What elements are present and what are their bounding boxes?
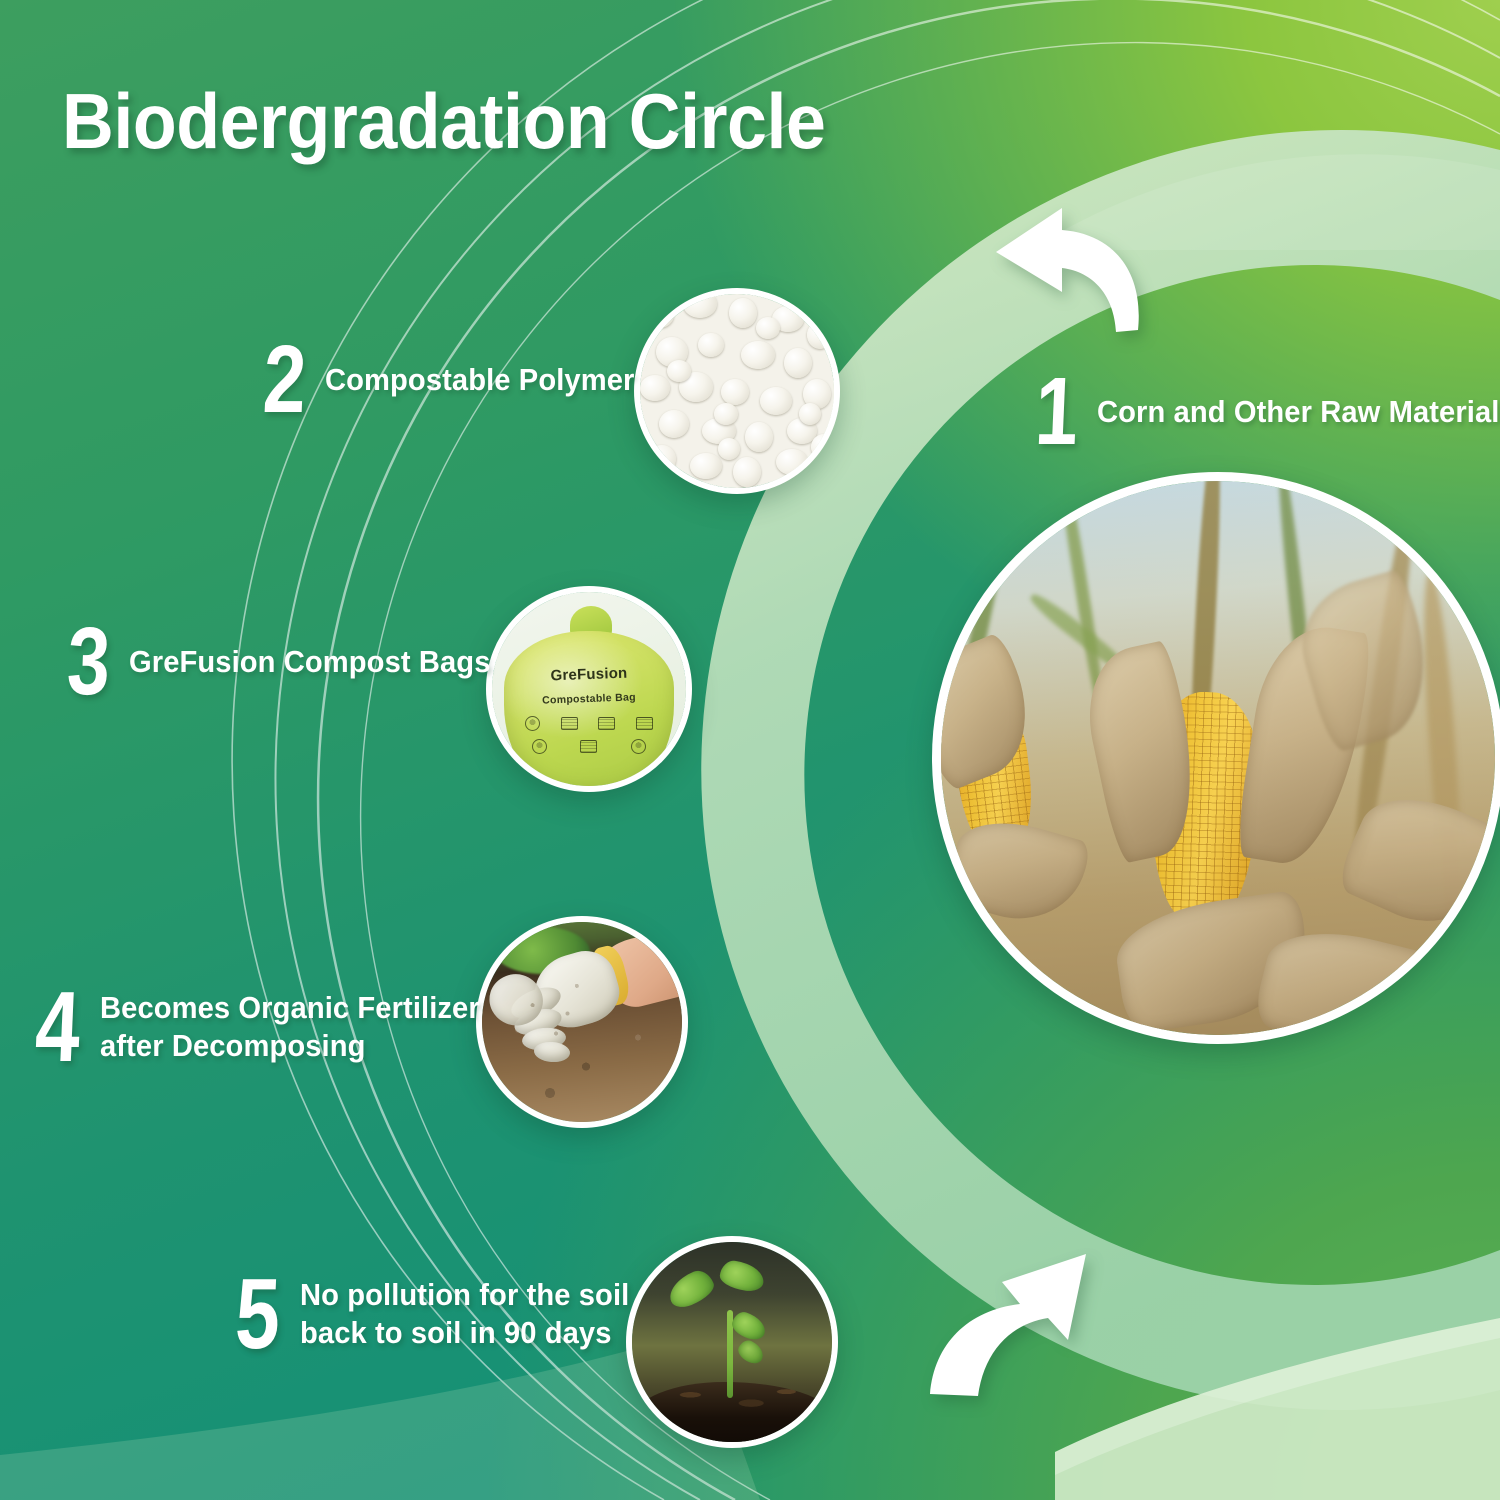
step-5-text-line2: back to soil in 90 days [300, 1315, 611, 1350]
infographic-poster: Biodergradation Circle [0, 0, 1500, 1500]
step-2-number: 2 [262, 340, 308, 421]
polymer-pellets-scene [640, 294, 834, 488]
step-3-number: 3 [66, 622, 112, 703]
step-5-text: No pollution for the soil back to soil i… [300, 1276, 629, 1353]
step-1-label-group: 1 Corn and Other Raw Materials [1030, 372, 1500, 453]
step-4-text-line1: Becomes Organic Fertilizer [100, 990, 480, 1025]
step-4-number: 4 [34, 985, 82, 1069]
step-4-text: Becomes Organic Fertilizer after Decompo… [100, 989, 480, 1066]
step-5-image-seedling [626, 1236, 838, 1448]
bag-certification-row-2 [515, 739, 662, 754]
step-3-text: GreFusion Compost Bags [129, 643, 491, 681]
bag-body [504, 631, 675, 792]
step-2-image-polymer-pellets [634, 288, 840, 494]
compostable-bag-scene: GreFusion Compostable Bag [492, 592, 686, 786]
industrial-compost-icon [631, 739, 646, 754]
step-5-number: 5 [234, 1272, 282, 1356]
bag-certification-row-1 [515, 716, 662, 731]
home-compost-icon [532, 739, 547, 754]
step-1-image-corn-field [932, 472, 1500, 1044]
step-3-image-compostable-bag: GreFusion Compostable Bag [486, 586, 692, 792]
corn-field-scene [941, 481, 1495, 1035]
hands-in-soil-scene [482, 922, 682, 1122]
step-5-label-group: 5 No pollution for the soil back to soil… [230, 1272, 650, 1356]
step-3-label-group: 3 GreFusion Compost Bags [62, 622, 514, 703]
seedling-scene [632, 1242, 832, 1442]
page-title: Biodergradation Circle [62, 82, 825, 160]
step-5-text-line1: No pollution for the soil [300, 1277, 629, 1312]
cycle-arrow-bottom-icon [928, 1248, 1128, 1398]
step-1-number: 1 [1034, 372, 1080, 453]
step-4-image-hands-in-soil [476, 916, 688, 1128]
recycle-icon [580, 740, 597, 753]
step-2-text: Compostable Polymer [325, 361, 634, 399]
step-2-label-group: 2 Compostable Polymer [258, 340, 655, 421]
bpi-cert-icon [598, 717, 615, 730]
step-1-text: Corn and Other Raw Materials [1097, 393, 1500, 431]
cycle-arrow-top-icon [938, 206, 1168, 336]
step-4-label-group: 4 Becomes Organic Fertilizer after Decom… [30, 985, 504, 1069]
ok-compost-cert-icon [561, 717, 578, 730]
step-4-text-line2: after Decomposing [100, 1028, 366, 1063]
seedling-cert-icon [525, 716, 540, 731]
tuv-cert-icon [636, 717, 653, 730]
